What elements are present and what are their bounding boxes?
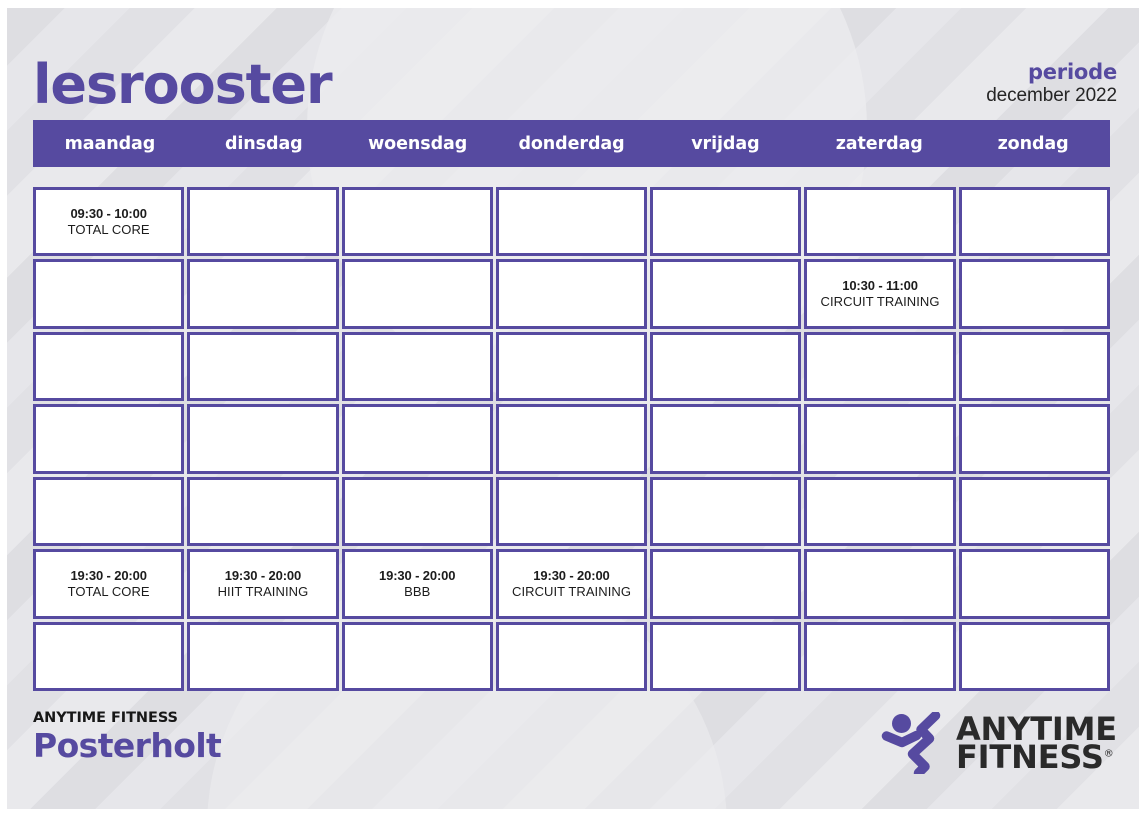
schedule-slot-empty[interactable] bbox=[33, 332, 184, 401]
club-block: ANYTIME FITNESS Posterholt bbox=[33, 706, 221, 764]
schedule-slot-empty[interactable] bbox=[959, 622, 1110, 691]
schedule-slot-empty[interactable] bbox=[804, 622, 955, 691]
schedule-slot-empty[interactable] bbox=[187, 259, 338, 328]
schedule-slot-empty[interactable] bbox=[187, 332, 338, 401]
registered-trademark-icon: ® bbox=[1104, 748, 1114, 759]
slot-class-name: HIIT TRAINING bbox=[218, 584, 309, 600]
slot-class-name: TOTAL CORE bbox=[68, 222, 150, 238]
slot-class-name: CIRCUIT TRAINING bbox=[821, 294, 940, 310]
period-label: periode bbox=[986, 61, 1117, 85]
schedule-grid: 09:30 - 10:00TOTAL CORE10:30 - 11:00CIRC… bbox=[33, 187, 1110, 691]
schedule-slot-empty[interactable] bbox=[650, 404, 801, 473]
schedule-slot-empty[interactable] bbox=[959, 477, 1110, 546]
schedule-slot-empty[interactable] bbox=[187, 404, 338, 473]
schedule-slot-empty[interactable] bbox=[342, 259, 493, 328]
schedule-slot-filled[interactable]: 19:30 - 20:00HIIT TRAINING bbox=[187, 549, 338, 618]
day-header-woensdag: woensdag bbox=[341, 120, 495, 167]
schedule-slot-empty[interactable] bbox=[496, 477, 647, 546]
period-value: december 2022 bbox=[986, 85, 1117, 106]
schedule-slot-empty[interactable] bbox=[187, 477, 338, 546]
running-person-icon bbox=[880, 712, 948, 774]
club-brand-label: ANYTIME FITNESS bbox=[33, 710, 221, 726]
day-header-zondag: zondag bbox=[956, 120, 1110, 167]
schedule-slot-empty[interactable] bbox=[496, 332, 647, 401]
slot-time: 19:30 - 20:00 bbox=[225, 568, 301, 584]
schedule-slot-empty[interactable] bbox=[342, 187, 493, 256]
schedule-slot-filled[interactable]: 19:30 - 20:00TOTAL CORE bbox=[33, 549, 184, 618]
day-header-vrijdag: vrijdag bbox=[648, 120, 802, 167]
schedule-slot-empty[interactable] bbox=[496, 622, 647, 691]
club-location-name: Posterholt bbox=[33, 729, 221, 764]
poster-inner: lesrooster periode december 2022 maandag… bbox=[7, 8, 1139, 809]
schedule-slot-empty[interactable] bbox=[959, 332, 1110, 401]
schedule-slot-empty[interactable] bbox=[650, 477, 801, 546]
schedule-slot-empty[interactable] bbox=[650, 259, 801, 328]
schedule-slot-empty[interactable] bbox=[496, 404, 647, 473]
slot-time: 09:30 - 10:00 bbox=[70, 206, 146, 222]
poster-header: lesrooster periode december 2022 bbox=[7, 40, 1139, 110]
schedule-slot-empty[interactable] bbox=[650, 549, 801, 618]
schedule-slot-empty[interactable] bbox=[496, 259, 647, 328]
schedule-slot-filled[interactable]: 19:30 - 20:00CIRCUIT TRAINING bbox=[496, 549, 647, 618]
slot-time: 19:30 - 20:00 bbox=[70, 568, 146, 584]
poster-footer: ANYTIME FITNESS Posterholt ANYTIME FITNE… bbox=[33, 706, 1117, 792]
slot-class-name: CIRCUIT TRAINING bbox=[512, 584, 631, 600]
schedule-slot-empty[interactable] bbox=[650, 187, 801, 256]
lesrooster-poster: lesrooster periode december 2022 maandag… bbox=[0, 0, 1146, 818]
day-header-donderdag: donderdag bbox=[495, 120, 649, 167]
schedule-slot-empty[interactable] bbox=[33, 622, 184, 691]
schedule-slot-empty[interactable] bbox=[804, 549, 955, 618]
schedule-slot-empty[interactable] bbox=[342, 622, 493, 691]
schedule-slot-empty[interactable] bbox=[650, 332, 801, 401]
day-header-zaterdag: zaterdag bbox=[802, 120, 956, 167]
logo-wordmark: ANYTIME FITNESS® bbox=[956, 715, 1117, 771]
schedule-slot-empty[interactable] bbox=[342, 332, 493, 401]
logo-word-fitness-text: FITNESS bbox=[956, 738, 1104, 776]
schedule-slot-empty[interactable] bbox=[650, 622, 801, 691]
logo-word-fitness: FITNESS® bbox=[956, 743, 1117, 771]
day-header-maandag: maandag bbox=[33, 120, 187, 167]
schedule-slot-empty[interactable] bbox=[804, 404, 955, 473]
slot-time: 10:30 - 11:00 bbox=[842, 278, 918, 294]
schedule-slot-empty[interactable] bbox=[187, 622, 338, 691]
schedule-slot-empty[interactable] bbox=[804, 332, 955, 401]
schedule-slot-filled[interactable]: 19:30 - 20:00BBB bbox=[342, 549, 493, 618]
schedule-slot-empty[interactable] bbox=[804, 187, 955, 256]
schedule-slot-empty[interactable] bbox=[959, 259, 1110, 328]
schedule-slot-empty[interactable] bbox=[187, 187, 338, 256]
slot-time: 19:30 - 20:00 bbox=[379, 568, 455, 584]
schedule-slot-empty[interactable] bbox=[342, 404, 493, 473]
schedule-slot-empty[interactable] bbox=[959, 549, 1110, 618]
schedule-slot-filled[interactable]: 09:30 - 10:00TOTAL CORE bbox=[33, 187, 184, 256]
schedule-slot-empty[interactable] bbox=[804, 477, 955, 546]
day-header-dinsdag: dinsdag bbox=[187, 120, 341, 167]
schedule-slot-empty[interactable] bbox=[342, 477, 493, 546]
page-title: lesrooster bbox=[33, 60, 332, 110]
schedule-slot-empty[interactable] bbox=[959, 404, 1110, 473]
slot-class-name: TOTAL CORE bbox=[68, 584, 150, 600]
period-block: periode december 2022 bbox=[986, 61, 1117, 110]
slot-class-name: BBB bbox=[404, 584, 430, 600]
schedule-slot-empty[interactable] bbox=[959, 187, 1110, 256]
schedule-slot-empty[interactable] bbox=[33, 477, 184, 546]
schedule-slot-empty[interactable] bbox=[33, 404, 184, 473]
anytime-fitness-logo: ANYTIME FITNESS® bbox=[880, 706, 1117, 774]
slot-time: 19:30 - 20:00 bbox=[533, 568, 609, 584]
schedule-slot-empty[interactable] bbox=[496, 187, 647, 256]
schedule-slot-empty[interactable] bbox=[33, 259, 184, 328]
schedule-slot-filled[interactable]: 10:30 - 11:00CIRCUIT TRAINING bbox=[804, 259, 955, 328]
poster-content: lesrooster periode december 2022 maandag… bbox=[7, 8, 1139, 809]
day-header-bar: maandagdinsdagwoensdagdonderdagvrijdagza… bbox=[33, 120, 1110, 167]
